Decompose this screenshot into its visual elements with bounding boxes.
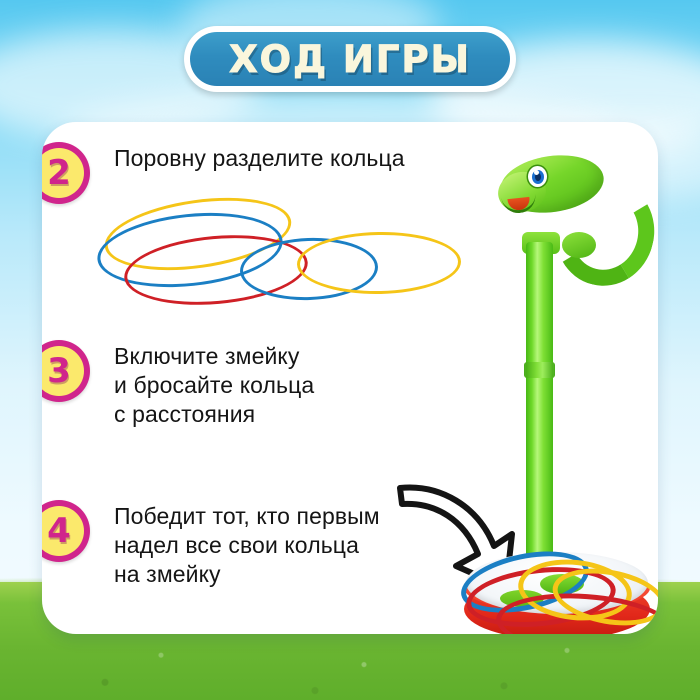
snake-head [500,146,620,256]
step-turn-on-snake: 3 Включите змейку и бросайте кольца с ра… [42,340,314,429]
snake-ring-toss-toy [434,134,658,634]
snake-body-tip [562,232,596,258]
step-number-badge: 3 [42,340,90,402]
toy-base [456,552,658,634]
badge-number: 3 [42,340,90,402]
toy-pole-joint [524,362,555,378]
step-text: Включите змейку и бросайте кольца с расс… [114,342,314,429]
step-text: Победит тот, кто первым надел все свои к… [114,502,380,589]
instructions-card: 2 Поровну разделите кольца 3 Включите зм… [42,122,658,634]
badge-number: 4 [42,500,90,562]
badge-number: 2 [42,142,90,204]
step-divide-rings: 2 Поровну разделите кольца [42,142,405,204]
slide-root: ХОД ИГРЫ 2 Поровну разделите кольца 3 Вк… [0,0,700,700]
rings-illustration [92,200,492,310]
banner-fill: ХОД ИГРЫ [190,32,510,86]
toy-pole [526,242,553,594]
step-number-badge: 4 [42,500,90,562]
step-text: Поровну разделите кольца [114,144,405,173]
step-number-badge: 2 [42,142,90,204]
title-banner: ХОД ИГРЫ [184,26,516,92]
page-title: ХОД ИГРЫ [229,38,471,81]
step-winner: 4 Победит тот, кто первым надел все свои… [42,500,380,589]
snake-eye-glint [534,170,539,175]
